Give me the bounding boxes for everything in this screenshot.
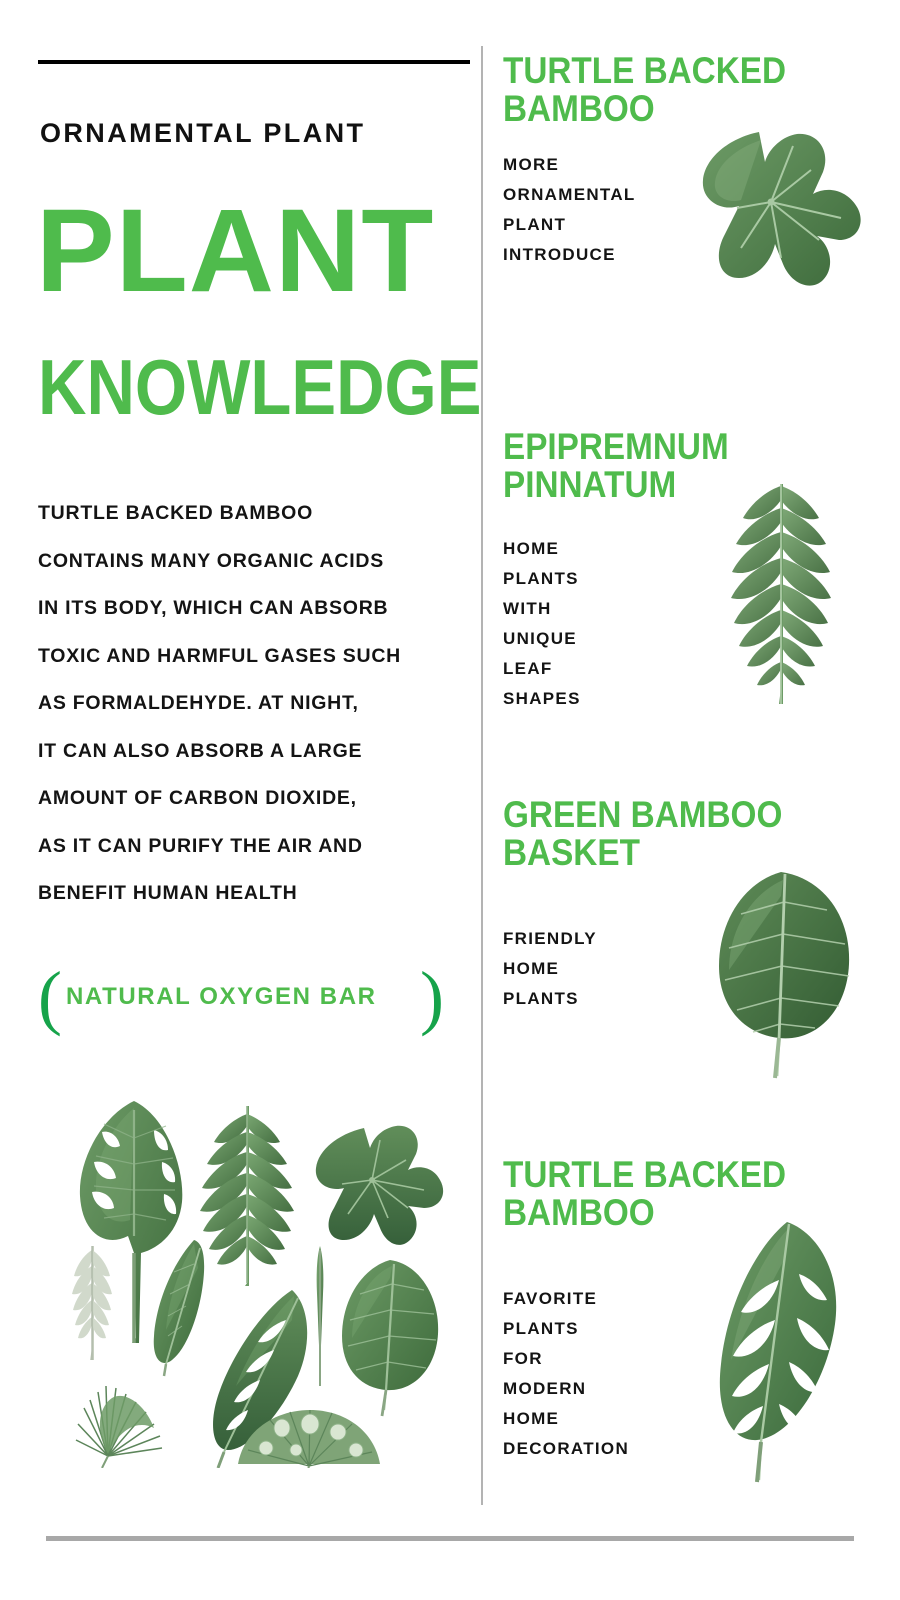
plant-card-body: FRIENDLY HOME PLANTS xyxy=(503,924,597,1014)
split-round-leaf-icon xyxy=(681,122,861,312)
page-title-primary: PLANT xyxy=(36,192,434,310)
leaf-collage-illustration xyxy=(42,1068,462,1468)
plant-card-body: MORE ORNAMENTAL PLANT INTRODUCE xyxy=(503,150,636,270)
plant-card: GREEN BAMBOO BASKET FRIENDLY HOME PLANTS xyxy=(481,772,900,1102)
feather-leaf xyxy=(72,1246,112,1360)
plant-card: TURTLE BACKED BAMBOO MORE ORNAMENTAL PLA… xyxy=(481,0,900,340)
plant-card-body: FAVORITE PLANTS FOR MODERN HOME DECORATI… xyxy=(503,1284,629,1464)
oval-veined-leaf xyxy=(342,1260,438,1416)
page-title-secondary: KNOWLEDGE xyxy=(38,348,481,426)
lance-leaf xyxy=(154,1240,204,1376)
badge-label: NATURAL OXYGEN BAR xyxy=(66,983,377,1011)
right-column: TURTLE BACKED BAMBOO MORE ORNAMENTAL PLA… xyxy=(481,0,900,1600)
left-parenthesis-icon: ( xyxy=(38,961,62,1033)
banana-split-leaf-icon xyxy=(699,1214,869,1484)
plant-card-title: GREEN BAMBOO BASKET xyxy=(503,796,782,872)
plant-card-body: HOME PLANTS WITH UNIQUE LEAF SHAPES xyxy=(503,534,581,714)
reed-stem-leaf xyxy=(317,1246,324,1386)
plant-card-title: EPIPREMNUM PINNATUM xyxy=(503,428,729,504)
natural-oxygen-bar-badge: ( NATURAL OXYGEN BAR ) xyxy=(38,962,438,1032)
right-parenthesis-icon: ) xyxy=(420,961,444,1033)
split-round-leaf xyxy=(316,1126,443,1245)
eyebrow-label: ORNAMENTAL PLANT xyxy=(40,120,365,147)
palm-fan-leaf xyxy=(76,1386,162,1468)
body-paragraph: TURTLE BACKED BAMBOO CONTAINS MANY ORGAN… xyxy=(38,490,458,918)
left-column: ORNAMENTAL PLANT PLANT KNOWLEDGE TURTLE … xyxy=(0,0,481,1600)
plant-card-title: TURTLE BACKED BAMBOO xyxy=(503,52,786,128)
oval-veined-leaf-icon xyxy=(703,864,863,1084)
plant-card: TURTLE BACKED BAMBOO FAVORITE PLANTS FOR… xyxy=(481,1132,900,1502)
bottom-divider-rule xyxy=(46,1536,854,1541)
plant-card: EPIPREMNUM PINNATUM HOME PLANTS WITH UNI… xyxy=(481,412,900,742)
pinnate-frond-leaf-icon xyxy=(696,472,866,712)
pinnate-frond-leaf xyxy=(200,1106,294,1286)
